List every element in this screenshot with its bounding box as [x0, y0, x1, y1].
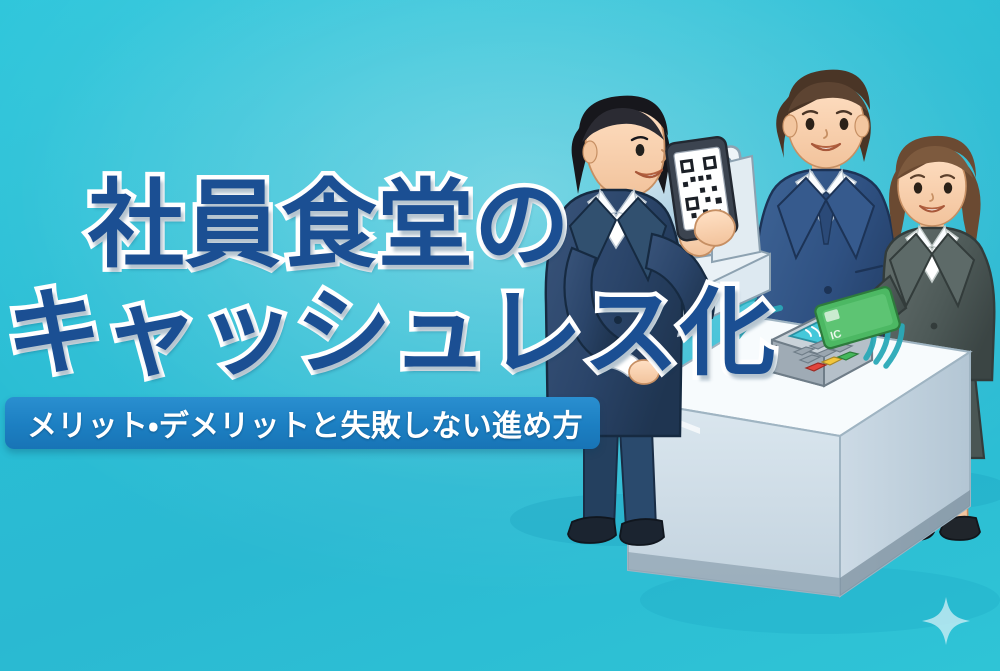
hero-title-block: 社員食堂の キャッシュレス化: [0, 178, 630, 382]
subtitle-text: メリット・デメリットと失敗しない進め方: [5, 401, 583, 445]
subtitle-banner: メリット・デメリットと失敗しない進め方: [5, 397, 600, 449]
sparkle-star-icon: [920, 595, 972, 647]
title-line-1: 社員食堂の: [0, 178, 630, 274]
hero-banner-canvas: IC 社員食堂の キャッシュレス化 メリット・デメリットと失敗しない進め方: [0, 0, 1000, 671]
title-line-2: キャッシュレス化: [0, 286, 630, 382]
